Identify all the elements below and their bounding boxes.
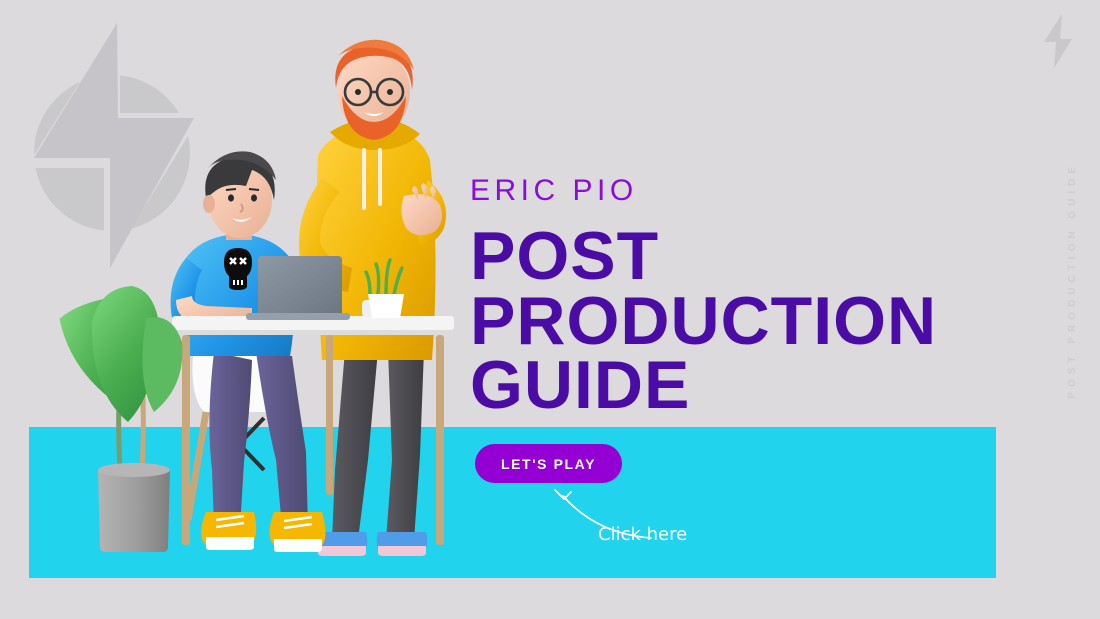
- click-here-hint: Click here: [533, 486, 708, 554]
- headline-line-2: PRODUCTION: [470, 289, 1030, 354]
- headline-line-3: GUIDE: [470, 353, 1030, 418]
- promo-banner: POST PRODUCTION GUIDE: [0, 0, 1100, 619]
- click-here-label: Click here: [598, 524, 687, 545]
- floor-plant: [57, 286, 182, 552]
- lightning-bolt-icon: [1038, 12, 1078, 70]
- vertical-caption: POST PRODUCTION GUIDE: [1060, 140, 1084, 420]
- lets-play-button[interactable]: LET'S PLAY: [475, 444, 622, 483]
- hero-illustration: [0, 0, 520, 619]
- sneaker: [201, 512, 256, 550]
- laptop: [246, 256, 350, 320]
- sneaker: [269, 512, 325, 552]
- eyebrow-text: ERIC PIO: [470, 176, 1030, 206]
- vertical-caption-text: POST PRODUCTION GUIDE: [1067, 162, 1078, 399]
- headline-block: ERIC PIO POST PRODUCTION GUIDE: [470, 176, 1030, 418]
- headline-line-1: POST: [470, 224, 1030, 289]
